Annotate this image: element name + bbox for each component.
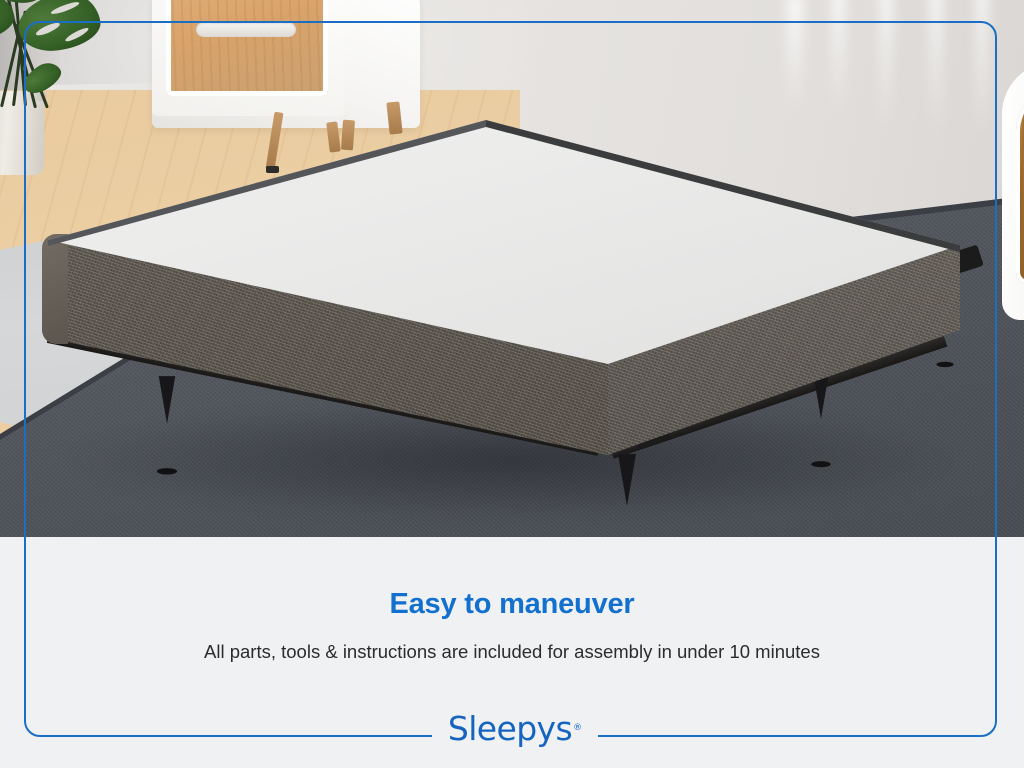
sleepys-logo: Sleepys® (443, 707, 587, 749)
headline: Easy to maneuver (0, 588, 1024, 621)
mattress-foundation (0, 0, 1024, 537)
foundation-corner (42, 234, 68, 344)
foundation-leg (618, 454, 636, 506)
feature-card: Easy to maneuver All parts, tools & inst… (0, 0, 1024, 768)
foundation-leg (159, 376, 176, 424)
registered-trademark-icon: ® (573, 723, 582, 733)
subheadline: All parts, tools & instructions are incl… (0, 641, 1024, 663)
product-photo (0, 0, 1024, 537)
brand-name: Sleepys (448, 712, 572, 745)
